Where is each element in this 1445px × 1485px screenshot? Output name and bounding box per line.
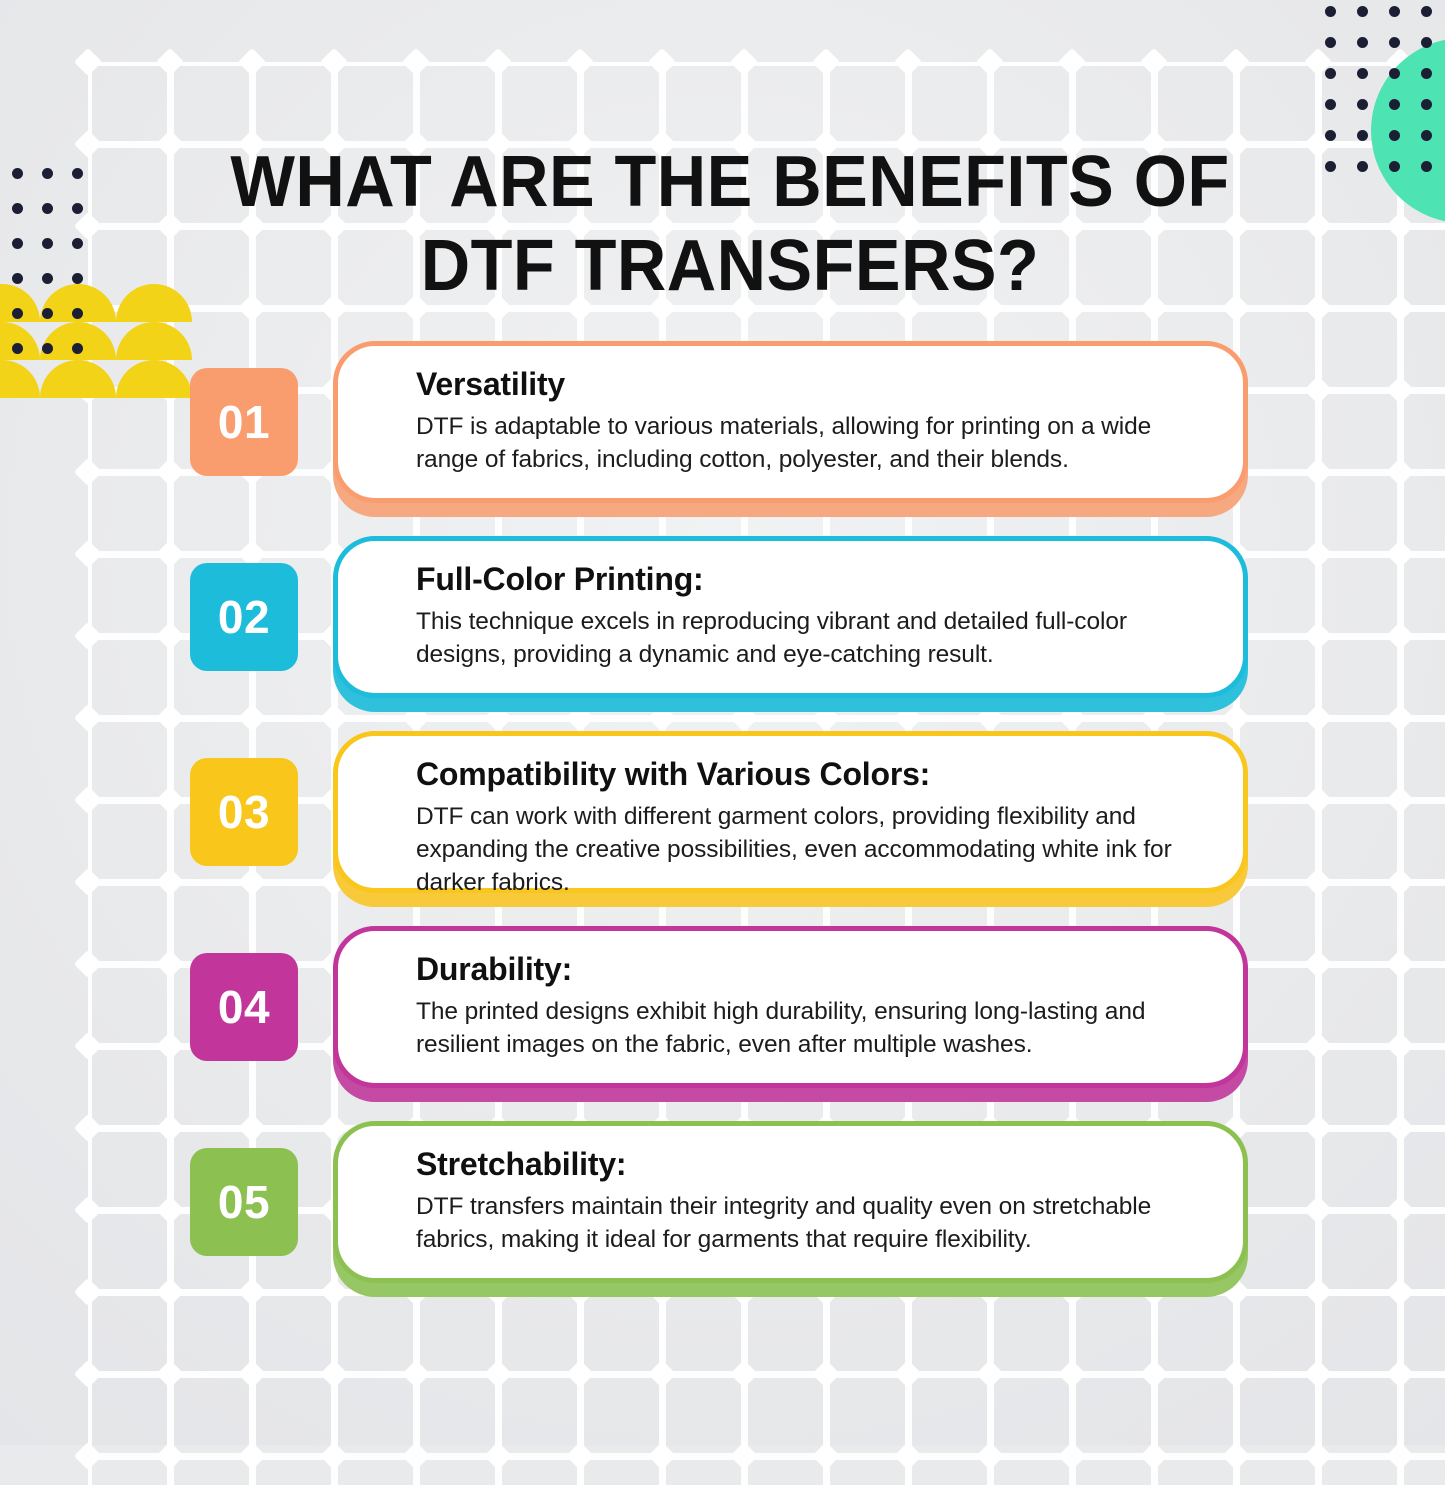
- decorative-dot: [1357, 130, 1368, 141]
- decorative-dot: [72, 308, 83, 319]
- benefit-number-badge: 04: [190, 953, 298, 1061]
- benefit-body-text: DTF can work with different garment colo…: [416, 800, 1209, 899]
- benefit-body-text: DTF transfers maintain their integrity a…: [416, 1190, 1209, 1256]
- benefit-heading: Versatility: [416, 362, 1209, 406]
- benefit-item: Durability:The printed designs exhibit h…: [0, 926, 1445, 1121]
- decorative-dot: [1421, 6, 1432, 17]
- decorative-dot: [1357, 37, 1368, 48]
- benefit-item: Compatibility with Various Colors:DTF ca…: [0, 731, 1445, 926]
- decorative-dot: [1421, 161, 1432, 172]
- benefit-number-badge: 01: [190, 368, 298, 476]
- decorative-dot: [1389, 161, 1400, 172]
- decorative-dot: [72, 273, 83, 284]
- decorative-dot: [1325, 6, 1336, 17]
- benefit-item: Stretchability:DTF transfers maintain th…: [0, 1121, 1445, 1316]
- decorative-dot: [1357, 6, 1368, 17]
- decorative-dot: [12, 308, 23, 319]
- decorative-dot: [1421, 99, 1432, 110]
- benefit-heading: Stretchability:: [416, 1142, 1209, 1186]
- benefit-number-label: 02: [218, 590, 270, 644]
- benefit-number-label: 05: [218, 1175, 270, 1229]
- benefit-body-text: DTF is adaptable to various materials, a…: [416, 410, 1209, 476]
- decorative-dot: [42, 238, 53, 249]
- benefit-card[interactable]: Compatibility with Various Colors:DTF ca…: [333, 731, 1248, 893]
- dot-grid-topright-decoration: [1325, 6, 1445, 192]
- decorative-dot: [1357, 99, 1368, 110]
- decorative-dot: [1357, 68, 1368, 79]
- benefit-number-label: 03: [218, 785, 270, 839]
- decorative-dot: [42, 273, 53, 284]
- benefit-body-text: The printed designs exhibit high durabil…: [416, 995, 1209, 1061]
- decorative-dot: [1357, 161, 1368, 172]
- decorative-dot: [1325, 99, 1336, 110]
- decorative-dot: [1389, 130, 1400, 141]
- title-block: WHAT ARE THE BENEFITS OF DTF TRANSFERS?: [150, 140, 1310, 308]
- benefit-card[interactable]: Full-Color Printing:This technique excel…: [333, 536, 1248, 698]
- decorative-dot: [1325, 161, 1336, 172]
- decorative-dot: [1389, 99, 1400, 110]
- decorative-dot: [1389, 37, 1400, 48]
- decorative-dot: [1325, 130, 1336, 141]
- decorative-dot: [1421, 37, 1432, 48]
- benefit-number-badge: 02: [190, 563, 298, 671]
- decorative-dot: [42, 203, 53, 214]
- decorative-dot: [42, 168, 53, 179]
- benefit-number-label: 01: [218, 395, 270, 449]
- decorative-dot: [72, 168, 83, 179]
- benefit-number-label: 04: [218, 980, 270, 1034]
- decorative-dot: [72, 203, 83, 214]
- decorative-dot: [1389, 68, 1400, 79]
- decorative-dot: [1421, 130, 1432, 141]
- decorative-dot: [1421, 68, 1432, 79]
- decorative-dot: [12, 168, 23, 179]
- benefit-number-badge: 03: [190, 758, 298, 866]
- benefit-item: VersatilityDTF is adaptable to various m…: [0, 341, 1445, 536]
- benefit-number-badge: 05: [190, 1148, 298, 1256]
- decorative-dot: [1325, 37, 1336, 48]
- benefit-heading: Full-Color Printing:: [416, 557, 1209, 601]
- benefits-list: VersatilityDTF is adaptable to various m…: [0, 341, 1445, 1316]
- decorative-dot: [12, 203, 23, 214]
- page-title: WHAT ARE THE BENEFITS OF DTF TRANSFERS?: [179, 140, 1281, 308]
- benefit-heading: Compatibility with Various Colors:: [416, 752, 1209, 796]
- decorative-dot: [12, 273, 23, 284]
- decorative-dot: [72, 238, 83, 249]
- decorative-dot: [12, 238, 23, 249]
- benefit-card[interactable]: VersatilityDTF is adaptable to various m…: [333, 341, 1248, 503]
- benefit-card[interactable]: Durability:The printed designs exhibit h…: [333, 926, 1248, 1088]
- decorative-dot: [1325, 68, 1336, 79]
- benefit-card[interactable]: Stretchability:DTF transfers maintain th…: [333, 1121, 1248, 1283]
- benefit-heading: Durability:: [416, 947, 1209, 991]
- benefit-body-text: This technique excels in reproducing vib…: [416, 605, 1209, 671]
- decorative-dot: [42, 308, 53, 319]
- decorative-dot: [1389, 6, 1400, 17]
- benefit-item: Full-Color Printing:This technique excel…: [0, 536, 1445, 731]
